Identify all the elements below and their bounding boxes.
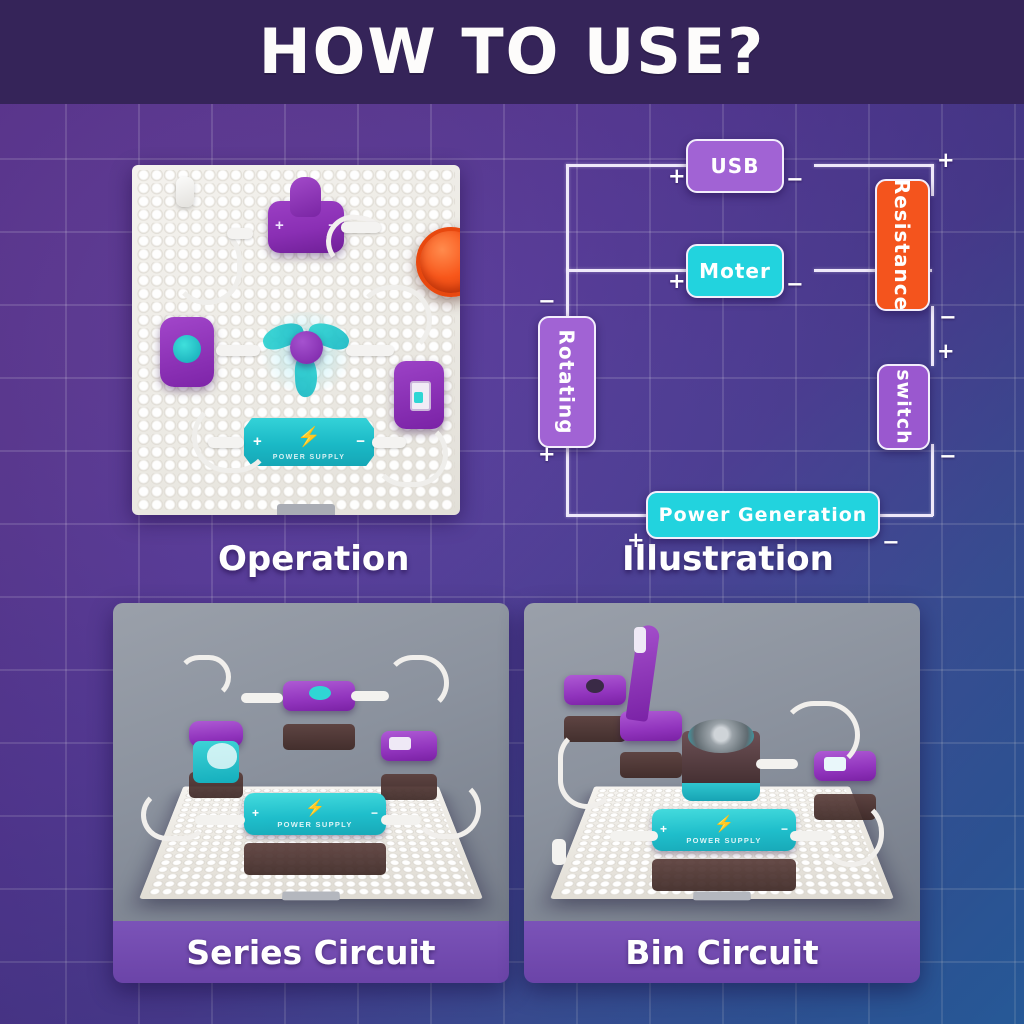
circuit-illustration: USB + − Moter + − Resistance + − switch … xyxy=(520,126,990,536)
module-base xyxy=(652,859,796,891)
module-base xyxy=(283,724,355,750)
wire-connector xyxy=(241,693,283,703)
fan-rotor-module xyxy=(264,317,348,383)
page-title: HOW TO USE? xyxy=(259,21,765,83)
caption-illustration: Illustration xyxy=(622,539,834,579)
psu-minus-sign: − xyxy=(781,822,788,836)
card-series-label-text: Series Circuit xyxy=(186,933,435,972)
diagram-wire xyxy=(566,514,648,517)
wire-connector xyxy=(195,815,245,825)
wire xyxy=(558,729,616,809)
switch-rocker xyxy=(389,737,411,750)
lightning-bolt-icon: ⚡ xyxy=(297,428,321,447)
power-supply-module: ⚡ + − POWER SUPPLY xyxy=(244,793,386,855)
lamp-head xyxy=(634,627,646,653)
operation-photo: + − + ⚡ − POWER SUPPLY xyxy=(126,157,496,535)
lamp-lens xyxy=(586,679,604,693)
rotating-plus-sign: + xyxy=(538,444,556,465)
header-band: HOW TO USE? xyxy=(0,0,1024,104)
diagram-node-usb[interactable]: USB xyxy=(686,139,784,193)
usb-minus-sign: − xyxy=(786,169,804,190)
card-bin-circuit[interactable]: ⚡ + − POWER SUPPLY Bin Circuit xyxy=(524,603,920,983)
breadboard-tab xyxy=(693,891,751,900)
wire-connector xyxy=(790,831,832,841)
diagram-node-moter-label: Moter xyxy=(699,259,771,283)
bin-circuit-photo: ⚡ + − POWER SUPPLY xyxy=(524,603,920,921)
wire-connector xyxy=(341,222,381,233)
fan-module xyxy=(189,721,243,781)
moter-minus-sign: − xyxy=(786,274,804,295)
usb-plus-sign: + xyxy=(668,166,686,187)
wire xyxy=(385,655,449,711)
wire-connector xyxy=(208,437,244,448)
card-series-circuit[interactable]: ⚡ + − POWER SUPPLY Series Circuit xyxy=(113,603,509,983)
sensor-module xyxy=(160,317,214,387)
fan-blade xyxy=(207,743,237,769)
wire-connector xyxy=(756,759,798,769)
diagram-node-resistance-label: Resistance xyxy=(891,179,915,311)
turbine-fan-module xyxy=(682,713,760,797)
card-bin-label: Bin Circuit xyxy=(524,921,920,983)
wire xyxy=(372,421,448,487)
psu-plus-sign: + xyxy=(252,806,259,820)
turbine-collar xyxy=(682,783,760,801)
card-bin-label-text: Bin Circuit xyxy=(625,933,818,972)
wire-connector xyxy=(372,437,406,448)
psu-label: POWER SUPPLY xyxy=(244,820,386,829)
lamp-module xyxy=(283,681,355,733)
wire-connector xyxy=(216,345,260,356)
diagram-wire xyxy=(814,164,934,167)
diagram-node-switch[interactable]: switch xyxy=(877,364,930,450)
wire-connector xyxy=(610,831,658,841)
breadboard: + − + ⚡ − POWER SUPPLY xyxy=(132,165,460,515)
rocker-switch-module xyxy=(394,361,444,429)
switch-minus-sign: − xyxy=(939,446,957,467)
card-series-label: Series Circuit xyxy=(113,921,509,983)
series-circuit-photo: ⚡ + − POWER SUPPLY xyxy=(113,603,509,921)
wire-connector xyxy=(227,228,253,239)
probe-tip xyxy=(552,839,566,865)
poster-root: HOW TO USE? + − xyxy=(0,0,1024,1024)
breadboard-tab xyxy=(277,504,335,515)
powergen-plus-sign: + xyxy=(627,530,645,551)
wire-connector xyxy=(346,345,394,356)
psu-label: POWER SUPPLY xyxy=(652,836,796,845)
diagram-node-rotating-label: Rotating xyxy=(555,329,579,434)
diagram-node-rotating[interactable]: Rotating xyxy=(538,316,596,448)
diagram-node-switch-label: switch xyxy=(893,369,915,444)
psu-plus-sign: + xyxy=(660,822,667,836)
resistance-plus-sign: + xyxy=(937,150,955,171)
switch-rocker xyxy=(410,381,431,411)
diagram-node-power-generation-label: Power Generation xyxy=(659,504,868,526)
rotating-minus-sign: − xyxy=(538,291,556,312)
fan-hub xyxy=(290,331,323,364)
caption-operation: Operation xyxy=(218,539,409,579)
probe-tip xyxy=(176,177,194,207)
diagram-wire xyxy=(931,444,934,516)
power-supply-module: ⚡ + − POWER SUPPLY xyxy=(652,809,796,871)
powergen-minus-sign: − xyxy=(882,532,900,553)
moter-plus-sign: + xyxy=(668,271,686,292)
crank-plus-sign: + xyxy=(275,217,284,234)
diagram-node-usb-label: USB xyxy=(711,154,760,178)
diagram-wire xyxy=(931,306,934,366)
module-base xyxy=(620,752,682,778)
sensor-lens xyxy=(173,335,201,363)
turbine-blades xyxy=(688,719,754,753)
lamp-lens xyxy=(309,686,331,700)
lightning-bolt-icon: ⚡ xyxy=(714,814,734,834)
lightning-bolt-icon: ⚡ xyxy=(305,798,325,818)
psu-minus-sign: − xyxy=(371,806,378,820)
breadboard-tab xyxy=(282,891,340,900)
diagram-node-resistance[interactable]: Resistance xyxy=(875,179,930,311)
wire xyxy=(413,779,481,839)
diagram-node-moter[interactable]: Moter xyxy=(686,244,784,298)
wire xyxy=(177,655,231,699)
lamp-module xyxy=(564,675,626,725)
wire-connector xyxy=(351,691,389,701)
psu-minus-sign: − xyxy=(356,433,365,450)
switch-plus-sign: + xyxy=(937,341,955,362)
resistance-minus-sign: − xyxy=(939,307,957,328)
wire-connector xyxy=(381,815,421,825)
diagram-node-power-generation[interactable]: Power Generation xyxy=(646,491,880,539)
diagram-wire xyxy=(566,494,569,516)
switch-module xyxy=(381,731,437,783)
module-base xyxy=(244,843,386,875)
diagram-wire xyxy=(931,164,934,196)
